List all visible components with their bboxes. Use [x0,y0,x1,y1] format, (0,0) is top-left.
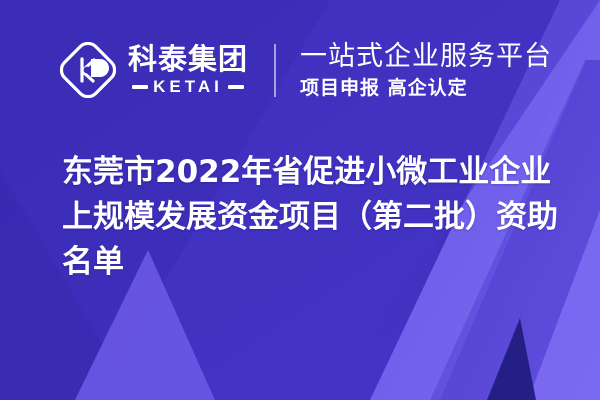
header-divider [274,44,276,97]
left-dash-icon [132,85,148,89]
brand-wordmark: 科泰集团 KETAI [128,44,248,97]
slogan-block: 一站式企业服务平台 项目申报 高企认定 [300,41,552,100]
brand-name-cn: 科泰集团 [128,44,248,74]
promo-banner: 科泰集团 KETAI 一站式企业服务平台 项目申报 高企认定 东莞市2022年省… [0,0,600,400]
banner-header: 科泰集团 KETAI 一站式企业服务平台 项目申报 高企认定 [0,0,600,140]
slogan-primary: 一站式企业服务平台 [300,41,552,73]
slogan-secondary: 项目申报 高企认定 [300,76,552,100]
banner-headline: 东莞市2022年省促进小微工业企业上规模发展资金项目（第二批）资助名单 [62,150,572,285]
brand-name-en: KETAI [153,77,223,97]
brand-name-en-row: KETAI [128,77,248,97]
brand-logo: 科泰集团 KETAI [60,42,248,98]
ketai-diamond-kp-monogram-icon [60,42,116,98]
right-dash-icon [228,85,244,89]
